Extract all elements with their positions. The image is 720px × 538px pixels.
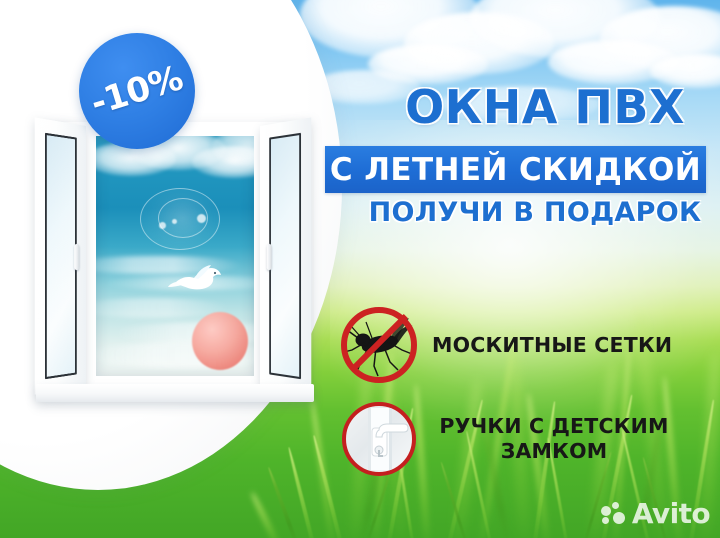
avito-wordmark: Avito [632,497,710,530]
window-handle-child-lock-icon [336,396,422,482]
window-handle-right [267,244,272,270]
feature-mosquito-nets-label: МОСКИТНЫЕ СЕТКИ [432,333,672,358]
dove-icon [168,262,226,296]
pvc-window-illustration [28,122,320,404]
avito-watermark: Avito [601,497,710,530]
feature-mosquito-nets: МОСКИТНЫЕ СЕТКИ [336,302,672,388]
balloon [192,312,248,370]
feature-child-lock-handles: РУЧКИ С ДЕТСКИМ ЗАМКОМ [336,396,680,482]
avito-logo-icon [601,502,627,526]
advertisement-banner: -10% ОКНА ПВХ С ЛЕТНЕЙ СКИДКОЙ ПОЛУЧИ В … [0,0,720,538]
window-glass-left [45,133,77,379]
headline-gift: ПОЛУЧИ В ПОДАРОК [360,199,710,226]
discount-badge-label: -10% [86,58,187,124]
window-glass-right [269,133,301,379]
headline-band-label: С ЛЕТНЕЙ СКИДКОЙ [330,152,701,188]
feature-child-lock-handles-label: РУЧКИ С ДЕТСКИМ ЗАМКОМ [428,414,680,464]
window-sash-right [260,117,311,394]
window-view-sky [96,136,254,376]
discount-badge: -10% [79,33,195,149]
headline-primary: ОКНА ПВХ [380,84,710,130]
window-sash-left [35,117,86,394]
window-handle-left [74,244,79,270]
headline-band: С ЛЕТНЕЙ СКИДКОЙ [325,146,706,193]
highlight-ring [342,402,416,476]
window-sill [36,384,314,402]
no-mosquito-icon [336,302,422,388]
